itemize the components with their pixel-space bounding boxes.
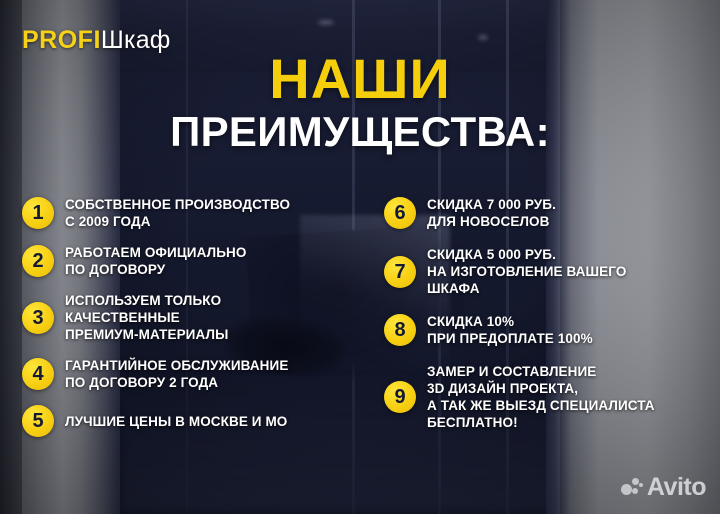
benefit-item: 7 СКИДКА 5 000 РУБ. НА ИЗГОТОВЛЕНИЕ ВАШЕ… — [384, 246, 704, 297]
avito-watermark: Avito — [621, 475, 706, 500]
benefit-text: ЛУЧШИЕ ЦЕНЫ В МОСКВЕ И МО — [65, 413, 287, 430]
benefit-text: СКИДКА 5 000 РУБ. НА ИЗГОТОВЛЕНИЕ ВАШЕГО… — [427, 246, 626, 297]
benefit-item: 6 СКИДКА 7 000 РУБ. ДЛЯ НОВОСЕЛОВ — [384, 196, 704, 230]
benefit-number-badge: 4 — [22, 358, 54, 390]
brand-logo: PROFIШкаф — [22, 26, 171, 55]
page-title: НАШИ ПРЕИМУЩЕСТВА: — [0, 52, 720, 155]
benefit-item: 2 РАБОТАЕМ ОФИЦИАЛЬНО ПО ДОГОВОРУ — [22, 244, 367, 278]
benefit-text: СКИДКА 7 000 РУБ. ДЛЯ НОВОСЕЛОВ — [427, 196, 556, 230]
benefit-text: РАБОТАЕМ ОФИЦИАЛЬНО ПО ДОГОВОРУ — [65, 244, 246, 278]
benefit-number-badge: 7 — [384, 256, 416, 288]
benefit-item: 4 ГАРАНТИЙНОЕ ОБСЛУЖИВАНИЕ ПО ДОГОВОРУ 2… — [22, 357, 367, 391]
page-title-line1: НАШИ — [0, 52, 720, 106]
benefit-number-badge: 9 — [384, 381, 416, 413]
benefit-text: ИСПОЛЬЗУЕМ ТОЛЬКО КАЧЕСТВЕННЫЕ ПРЕМИУМ-М… — [65, 292, 228, 343]
benefit-text: СОБСТВЕННОЕ ПРОИЗВОДСТВО С 2009 ГОДА — [65, 196, 290, 230]
avito-wordmark: Avito — [647, 475, 706, 500]
benefit-text: ЗАМЕР И СОСТАВЛЕНИЕ 3D ДИЗАЙН ПРОЕКТА, А… — [427, 363, 655, 431]
benefits-column-left: 1 СОБСТВЕННОЕ ПРОИЗВОДСТВО С 2009 ГОДА 2… — [22, 196, 367, 437]
benefit-text: СКИДКА 10% ПРИ ПРЕДОПЛАТЕ 100% — [427, 313, 593, 347]
benefit-number-badge: 8 — [384, 314, 416, 346]
benefit-number-badge: 2 — [22, 245, 54, 277]
benefit-number-badge: 3 — [22, 302, 54, 334]
benefit-item: 8 СКИДКА 10% ПРИ ПРЕДОПЛАТЕ 100% — [384, 313, 704, 347]
avito-dots-icon — [621, 478, 643, 498]
benefit-number-badge: 5 — [22, 405, 54, 437]
promo-poster: PROFIШкаф НАШИ ПРЕИМУЩЕСТВА: 1 СОБСТВЕНН… — [0, 0, 720, 514]
benefit-text: ГАРАНТИЙНОЕ ОБСЛУЖИВАНИЕ ПО ДОГОВОРУ 2 Г… — [65, 357, 288, 391]
benefit-item: 5 ЛУЧШИЕ ЦЕНЫ В МОСКВЕ И МО — [22, 405, 367, 437]
benefit-number-badge: 1 — [22, 197, 54, 229]
benefit-item: 1 СОБСТВЕННОЕ ПРОИЗВОДСТВО С 2009 ГОДА — [22, 196, 367, 230]
brand-logo-primary: PROFI — [22, 26, 101, 54]
page-title-line2: ПРЕИМУЩЕСТВА: — [0, 109, 720, 155]
benefits-column-right: 6 СКИДКА 7 000 РУБ. ДЛЯ НОВОСЕЛОВ 7 СКИД… — [384, 196, 704, 431]
benefit-number-badge: 6 — [384, 197, 416, 229]
brand-logo-secondary: Шкаф — [101, 26, 171, 54]
benefit-item: 3 ИСПОЛЬЗУЕМ ТОЛЬКО КАЧЕСТВЕННЫЕ ПРЕМИУМ… — [22, 292, 367, 343]
benefit-item: 9 ЗАМЕР И СОСТАВЛЕНИЕ 3D ДИЗАЙН ПРОЕКТА,… — [384, 363, 704, 431]
